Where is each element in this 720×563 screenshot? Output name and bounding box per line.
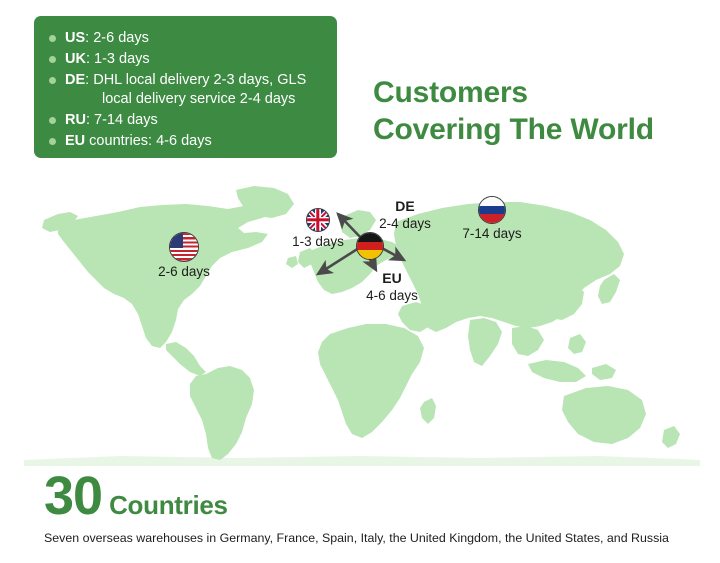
shipping-row-us: US: 2-6 days (46, 28, 327, 48)
shipping-detail-de-continued: local delivery service 2-4 days (46, 89, 327, 109)
shipping-code-eu: EU (65, 133, 85, 149)
marker-de-days: 2-4 days (363, 216, 447, 232)
marker-de-label: DE 2-4 days (363, 198, 447, 232)
page-title: Customers Covering The World (373, 74, 654, 148)
shipping-code-ru: RU (65, 112, 86, 128)
country-count: 30 Countries (44, 470, 684, 522)
shipping-code-uk: UK (65, 51, 86, 67)
marker-us-label: 2-6 days (142, 264, 226, 280)
marker-ru-label: 7-14 days (446, 226, 538, 242)
shipping-detail-us: 2-6 days (93, 30, 149, 46)
shipping-sep-ru: : (86, 112, 94, 128)
marker-uk[interactable]: 1-3 days (276, 208, 360, 250)
marker-eu-days: 4-6 days (350, 288, 434, 304)
marker-uk-label: 1-3 days (276, 234, 360, 250)
shipping-code-us: US (65, 30, 85, 46)
shipping-row-eu-text: EU countries: 4-6 days (65, 131, 327, 151)
country-count-number: 30 (44, 470, 102, 522)
shipping-times-box: US: 2-6 days UK: 1-3 days DE: DHL local … (34, 16, 337, 158)
page-title-line1: Customers (373, 74, 654, 111)
de-flag-icon (356, 232, 384, 260)
shipping-row-uk: UK: 1-3 days (46, 49, 327, 69)
bullet-icon (49, 77, 56, 84)
shipping-detail-eu: 4-6 days (156, 133, 212, 149)
shipping-row-uk-text: UK: 1-3 days (65, 49, 327, 69)
world-map-landmasses (0, 176, 720, 466)
bullet-icon (49, 138, 56, 145)
marker-de-code: DE (363, 198, 447, 214)
ru-flag-icon (478, 196, 506, 224)
marker-de-flag[interactable] (356, 232, 384, 260)
marker-us[interactable]: 2-6 days (142, 232, 226, 280)
shipping-sep-eu: countries: (85, 133, 156, 149)
shipping-infographic: US: 2-6 days UK: 1-3 days DE: DHL local … (0, 0, 720, 563)
shipping-detail-de: DHL local delivery 2-3 days, GLS (93, 72, 306, 88)
marker-eu-code: EU (350, 270, 434, 286)
shipping-row-ru-text: RU: 7-14 days (65, 110, 327, 130)
shipping-row-ru: RU: 7-14 days (46, 110, 327, 130)
shipping-sep-uk: : (86, 51, 94, 67)
shipping-row-de: DE: DHL local delivery 2-3 days, GLS (46, 70, 327, 90)
marker-eu: EU 4-6 days (350, 270, 434, 304)
shipping-row-us-text: US: 2-6 days (65, 28, 327, 48)
shipping-row-de-text: DE: DHL local delivery 2-3 days, GLS (65, 70, 327, 90)
shipping-detail-ru: 7-14 days (94, 112, 158, 128)
bullet-icon (49, 117, 56, 124)
page-title-line2: Covering The World (373, 111, 654, 148)
shipping-sep-us: : (85, 30, 93, 46)
footer-caption: Seven overseas warehouses in Germany, Fr… (44, 530, 684, 546)
footer: 30 Countries Seven overseas warehouses i… (44, 470, 684, 546)
bullet-icon (49, 56, 56, 63)
world-map: 2-6 days 1-3 days DE 2-4 days EU 4-6 day… (0, 176, 720, 466)
shipping-sep-de: : (85, 72, 93, 88)
country-count-word: Countries (109, 491, 228, 519)
shipping-detail-uk: 1-3 days (94, 51, 150, 67)
us-flag-icon (169, 232, 199, 262)
marker-ru[interactable]: 7-14 days (446, 196, 538, 242)
uk-flag-icon (306, 208, 330, 232)
bullet-icon (49, 35, 56, 42)
shipping-code-de: DE (65, 72, 85, 88)
shipping-row-eu: EU countries: 4-6 days (46, 131, 327, 151)
